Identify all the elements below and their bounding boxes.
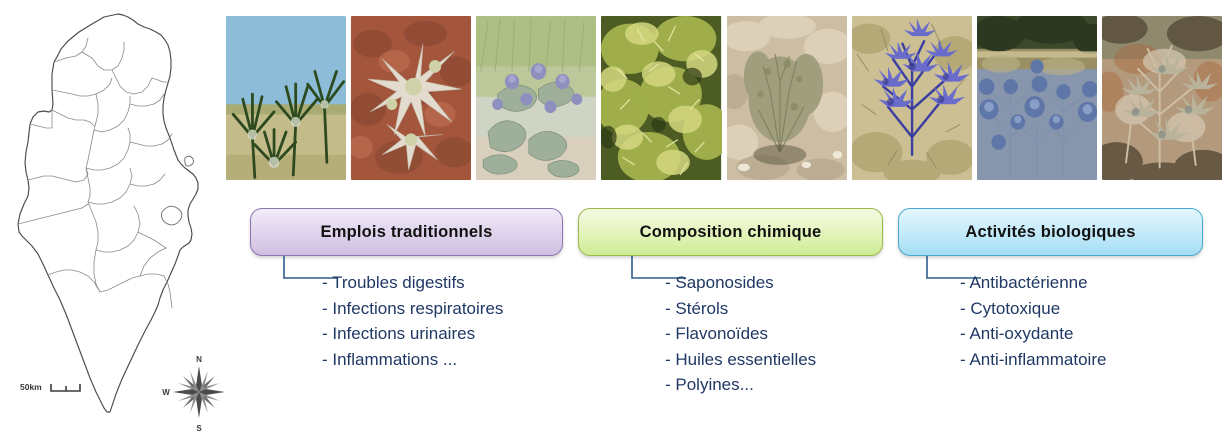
list-item: - Troubles digestifs (322, 270, 503, 296)
plant-photo-8 (1102, 16, 1222, 180)
list-item: - Anti-inflammatoire (960, 347, 1106, 373)
compass-south-label: S (196, 424, 202, 433)
plant-photo-7 (977, 16, 1097, 180)
plant-photo-3 (476, 16, 596, 180)
category-box-traditional-uses[interactable]: Emplois traditionnels (250, 208, 563, 256)
tunisia-governorates-map: 50km (0, 0, 226, 439)
list-item: - Polyines... (665, 372, 816, 398)
map-outline (18, 14, 198, 412)
list-item: - Saponosides (665, 270, 816, 296)
category-column-traditional-uses: Emplois traditionnels (250, 208, 563, 256)
map-panel: 50km (0, 0, 226, 439)
list-item: - Flavonoïdes (665, 321, 816, 347)
list-item: - Cytotoxique (960, 296, 1106, 322)
list-item: - Antibactérienne (960, 270, 1106, 296)
list-item: - Inflammations ... (322, 347, 503, 373)
category-box-chemical-composition[interactable]: Composition chimique (578, 208, 883, 256)
compass-star (173, 366, 225, 418)
list-item: - Infections respiratoires (322, 296, 503, 322)
plant-photo-6 (852, 16, 972, 180)
compass-north-label: N (196, 355, 202, 364)
list-item: - Anti-oxydante (960, 321, 1106, 347)
map-island (162, 156, 194, 225)
map-internal-borders (18, 38, 172, 308)
list-item: - Infections urinaires (322, 321, 503, 347)
compass-rose: N S E W (162, 355, 226, 433)
category-box-biological-activities[interactable]: Activités biologiques (898, 208, 1203, 256)
scale-bar-label: 50km (20, 382, 42, 392)
item-list-chemical-composition: - Saponosides - Stérols - Flavonoïdes - … (665, 270, 816, 398)
category-title-chemical-composition: Composition chimique (640, 223, 822, 242)
plant-photo-2 (351, 16, 471, 180)
compass-west-label: W (162, 388, 170, 397)
category-title-biological-activities: Activités biologiques (965, 223, 1135, 242)
plant-photo-1 (226, 16, 346, 180)
category-column-biological-activities: Activités biologiques (898, 208, 1203, 256)
plant-photo-4 (601, 16, 721, 180)
plant-photo-5 (727, 16, 847, 180)
map-border-path (18, 14, 198, 412)
plant-photo-strip (226, 16, 1222, 180)
map-scale-bar: 50km (20, 382, 80, 392)
item-list-biological-activities: - Antibactérienne - Cytotoxique - Anti-o… (960, 270, 1106, 372)
item-list-traditional-uses: - Troubles digestifs - Infections respir… (322, 270, 503, 372)
category-title-traditional-uses: Emplois traditionnels (321, 223, 493, 242)
list-item: - Stérols (665, 296, 816, 322)
list-item: - Huiles essentielles (665, 347, 816, 373)
category-column-chemical-composition: Composition chimique (578, 208, 883, 256)
